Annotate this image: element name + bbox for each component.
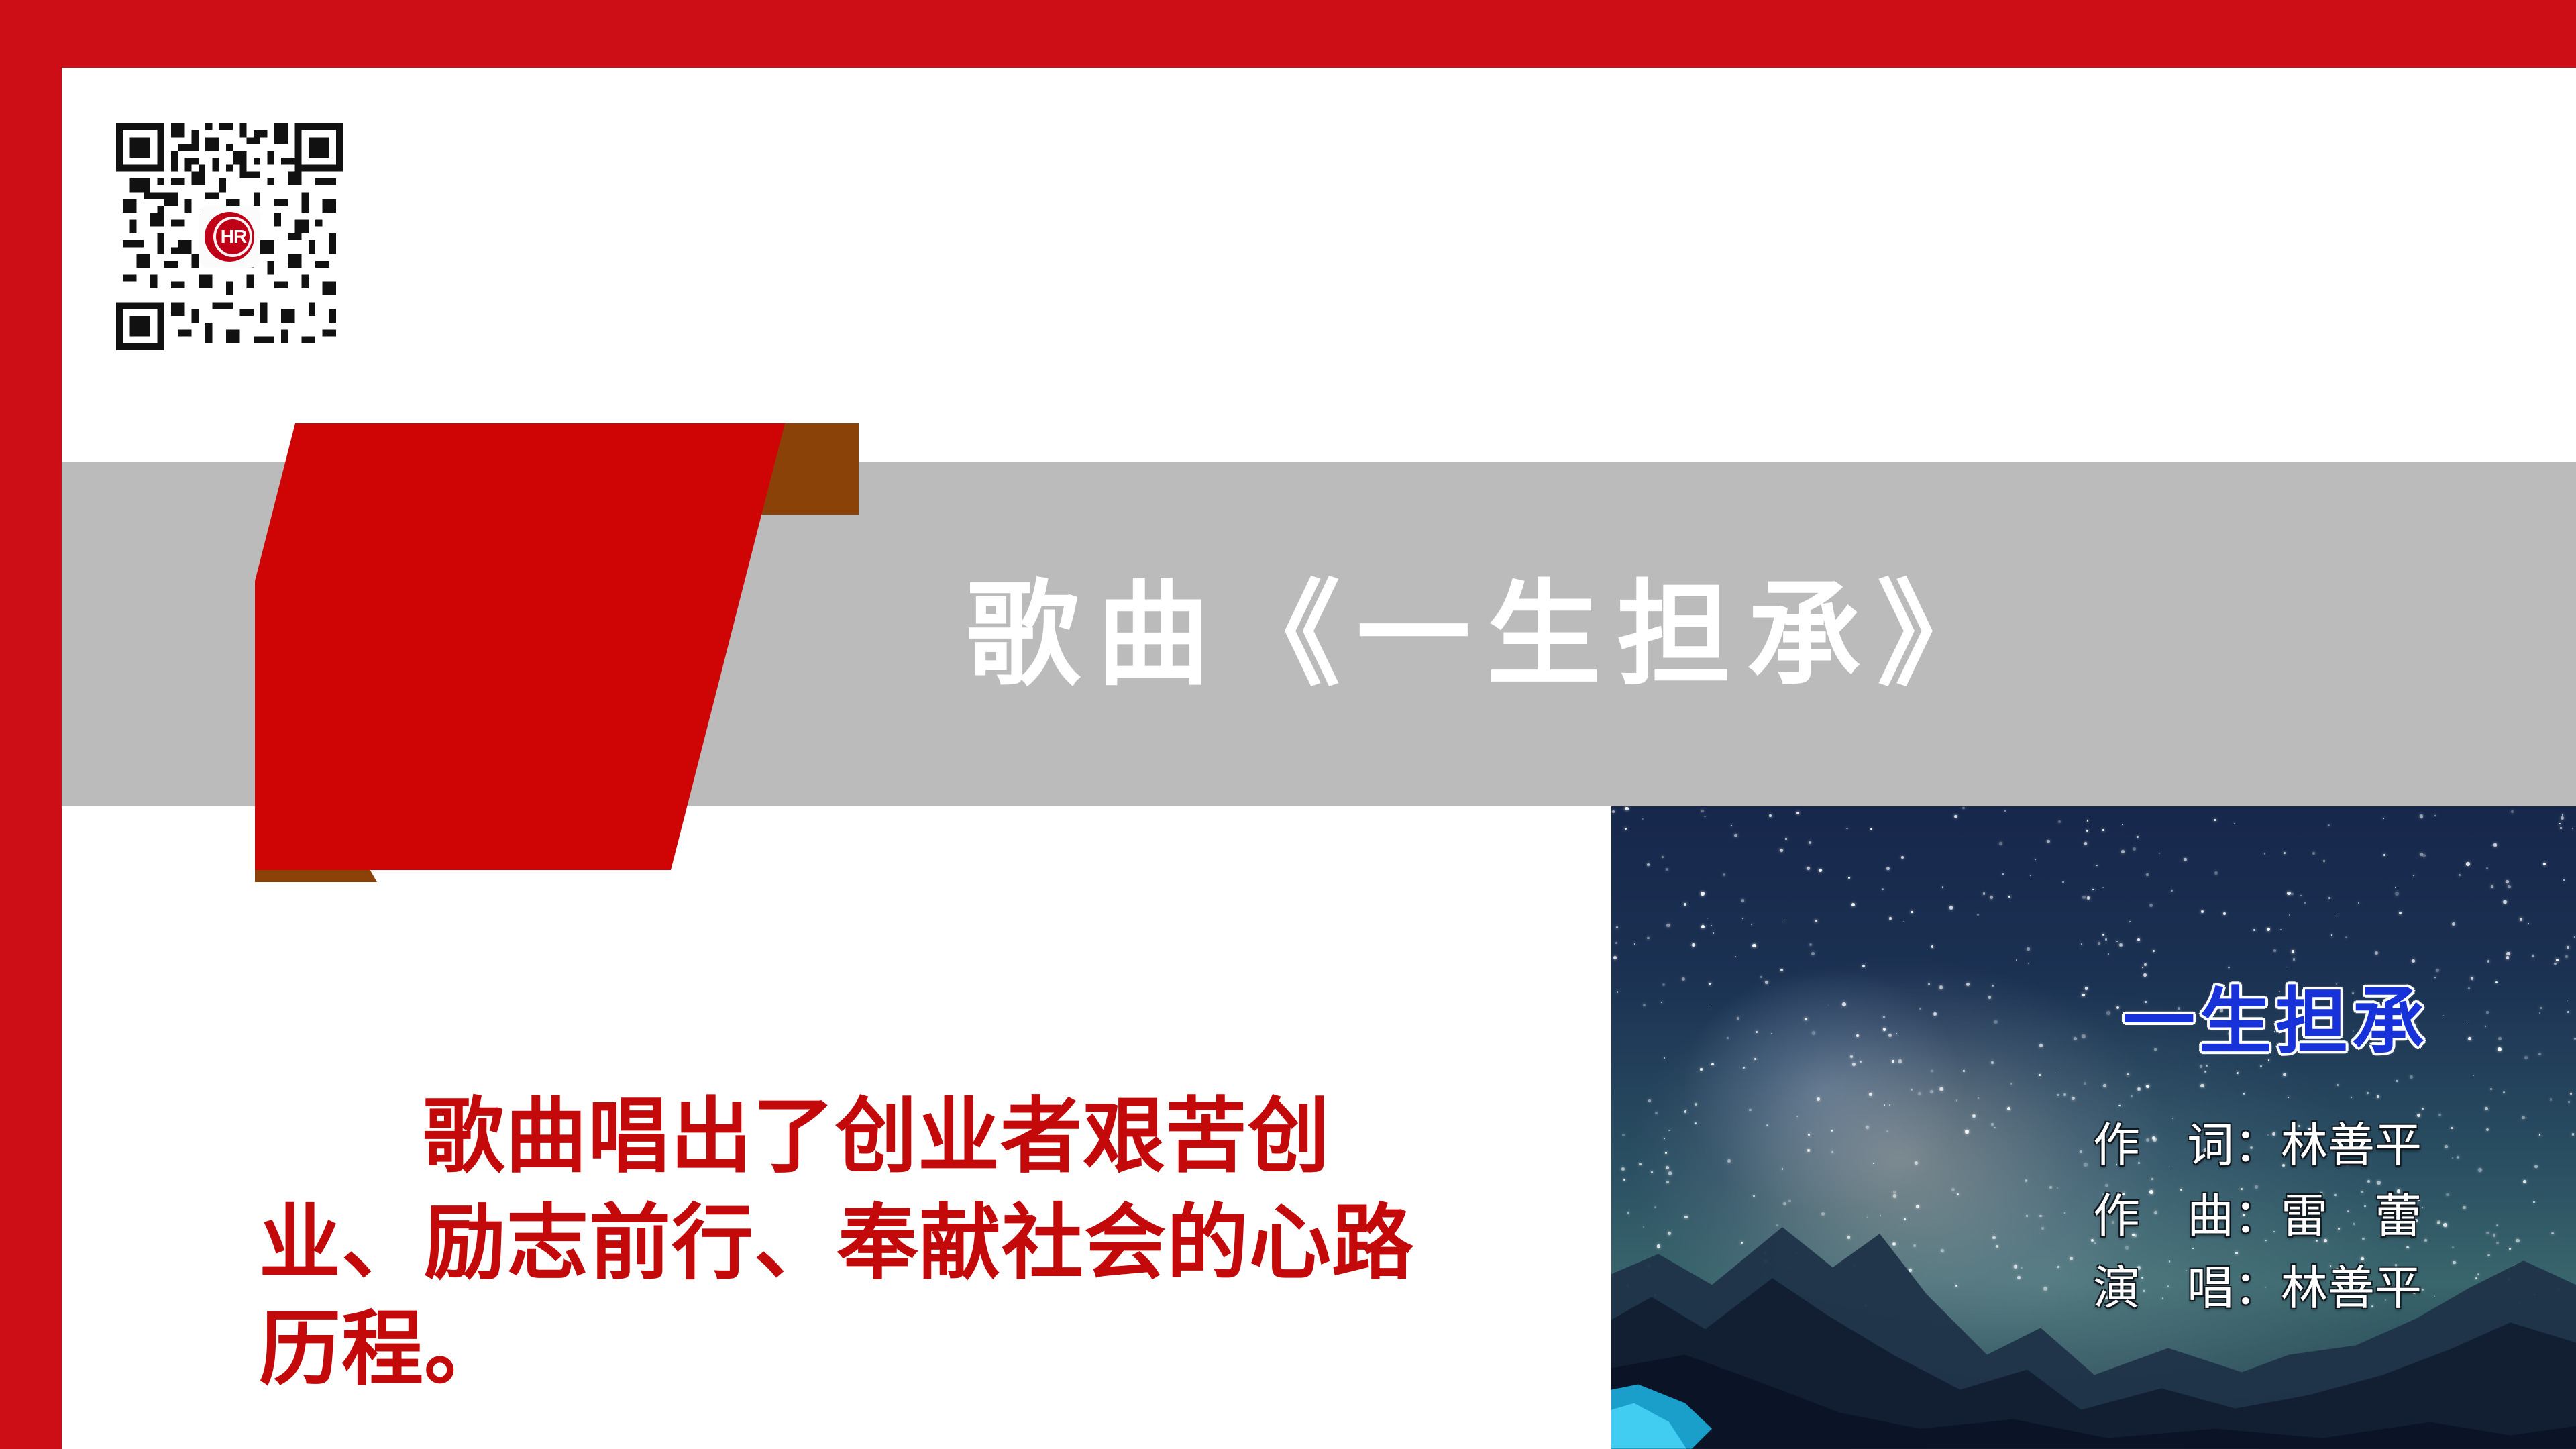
frame-accent-top [0, 0, 2576, 68]
video-title: 一生担承 [2123, 986, 2538, 1059]
qr-logo-label: HR [221, 226, 246, 248]
qr-center-logo: HR [199, 206, 260, 268]
frame-accent-left [0, 0, 62, 1449]
credit-lyricist: 作 词：林善平 [2093, 1110, 2563, 1181]
qr-code[interactable]: HR [115, 123, 343, 350]
page-title: 歌曲《一生担承》 [966, 545, 2241, 726]
slide-canvas: HR 歌曲《一生担承》 歌曲唱出了创业者艰苦创业、励志前行、奉献社会的心路历程。… [0, 0, 2576, 1449]
credit-composer: 作 曲：雷 蕾 [2093, 1181, 2563, 1252]
video-thumbnail[interactable]: 一生担承 作 词：林善平 作 曲：雷 蕾 演 唱：林善平 [1611, 806, 2576, 1449]
body-paragraph: 歌曲唱出了创业者艰苦创业、励志前行、奉献社会的心路历程。 [259, 1083, 1426, 1403]
video-credits: 作 词：林善平 作 曲：雷 蕾 演 唱：林善平 [2093, 1110, 2563, 1324]
credit-vocalist: 演 唱：林善平 [2093, 1252, 2563, 1324]
